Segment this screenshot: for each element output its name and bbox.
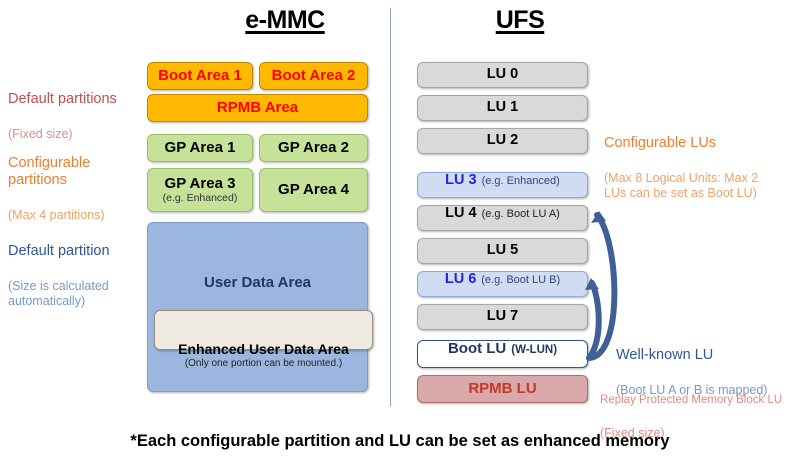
- box-boot-lu-label: Boot LU: [448, 341, 506, 357]
- footer-note: *Each configurable partition and LU can …: [0, 432, 800, 451]
- box-lu-2[interactable]: LU 2: [417, 128, 588, 154]
- box-enhanced-user-data-area-label: Enhanced User Data Area: [178, 342, 349, 357]
- box-user-data-area-label: User Data Area: [204, 275, 311, 291]
- box-lu-7-label: LU 7: [487, 309, 518, 324]
- label-default-partitions-heading: Default partitions: [8, 91, 143, 108]
- label-configurable-lus-body: (Max 8 Logical Units: Max 2 LUs can be s…: [604, 171, 794, 201]
- box-gp-area-4[interactable]: GP Area 4: [259, 168, 368, 212]
- box-lu-5[interactable]: LU 5: [417, 238, 588, 264]
- column-divider: [390, 8, 391, 406]
- label-configurable-lus-heading: Configurable LUs: [604, 135, 794, 152]
- box-lu-2-label: LU 2: [487, 133, 518, 148]
- box-gp-area-1-label: GP Area 1: [165, 140, 236, 156]
- box-rpmb-area[interactable]: RPMB Area: [147, 94, 368, 122]
- box-lu-0[interactable]: LU 0: [417, 62, 588, 88]
- box-lu-1-label: LU 1: [487, 100, 518, 115]
- box-lu-0-label: LU 0: [487, 67, 518, 82]
- box-gp-area-3-sublabel: (e.g. Enhanced): [163, 193, 238, 204]
- box-boot-area-2[interactable]: Boot Area 2: [259, 62, 368, 90]
- label-default-partition-body: (Size is calculated automatically): [8, 279, 143, 309]
- box-boot-area-1[interactable]: Boot Area 1: [147, 62, 253, 90]
- label-default-partition: Default partition (Size is calculated au…: [8, 224, 143, 327]
- box-boot-area-1-label: Boot Area 1: [158, 68, 242, 84]
- box-lu-5-label: LU 5: [487, 243, 518, 258]
- column-title-ufs: UFS: [440, 6, 600, 35]
- arrow-boot-lu-to-lu6: [589, 283, 599, 358]
- label-rpmb-lu-heading: Replay Protected Memory Block LU: [600, 394, 800, 408]
- box-lu-4-sublabel: (e.g. Boot LU A): [482, 209, 560, 221]
- box-lu-3[interactable]: LU 3 (e.g. Enhanced): [417, 172, 588, 198]
- box-rpmb-area-label: RPMB Area: [217, 100, 298, 116]
- label-configurable-partitions-heading: Configurable partitions: [8, 155, 143, 189]
- box-lu-6-sublabel: (e.g. Boot LU B): [481, 275, 560, 287]
- arrow-boot-lu-to-lu4: [589, 215, 614, 358]
- box-lu-4-label: LU 4: [445, 206, 476, 221]
- label-default-partition-heading: Default partition: [8, 243, 143, 260]
- column-title-emmc: e-MMC: [200, 6, 370, 35]
- label-configurable-partitions-body: (Max 4 partitions): [8, 208, 143, 223]
- label-configurable-lus: Configurable LUs (Max 8 Logical Units: M…: [604, 116, 794, 219]
- box-gp-area-1[interactable]: GP Area 1: [147, 134, 253, 162]
- box-user-data-area[interactable]: User Data Area Enhanced User Data Area (…: [147, 222, 368, 392]
- box-rpmb-lu[interactable]: RPMB LU: [417, 375, 588, 403]
- diagram-canvas: e-MMC UFS Default partitions (Fixed size…: [0, 0, 800, 463]
- box-boot-lu-sublabel: (W-LUN): [511, 344, 557, 356]
- box-boot-lu[interactable]: Boot LU (W-LUN): [417, 340, 588, 368]
- box-lu-1[interactable]: LU 1: [417, 95, 588, 121]
- box-gp-area-4-label: GP Area 4: [278, 182, 349, 198]
- box-lu-7[interactable]: LU 7: [417, 304, 588, 330]
- box-gp-area-3-label: GP Area 3: [165, 176, 236, 192]
- box-gp-area-2-label: GP Area 2: [278, 140, 349, 156]
- box-enhanced-user-data-area[interactable]: Enhanced User Data Area (Only one portio…: [154, 310, 373, 350]
- box-enhanced-user-data-area-sublabel: (Only one portion can be mounted.): [185, 359, 342, 370]
- box-lu-6-label: LU 6: [445, 272, 476, 287]
- box-lu-4[interactable]: LU 4 (e.g. Boot LU A): [417, 205, 588, 231]
- box-rpmb-lu-label: RPMB LU: [468, 381, 536, 397]
- label-well-known-lu-heading: Well-known LU: [616, 347, 800, 364]
- box-gp-area-3[interactable]: GP Area 3 (e.g. Enhanced): [147, 168, 253, 212]
- box-lu-3-sublabel: (e.g. Enhanced): [482, 176, 560, 188]
- box-boot-area-2-label: Boot Area 2: [272, 68, 356, 84]
- box-lu-6[interactable]: LU 6 (e.g. Boot LU B): [417, 271, 588, 297]
- box-lu-3-label: LU 3: [445, 173, 476, 188]
- box-gp-area-2[interactable]: GP Area 2: [259, 134, 368, 162]
